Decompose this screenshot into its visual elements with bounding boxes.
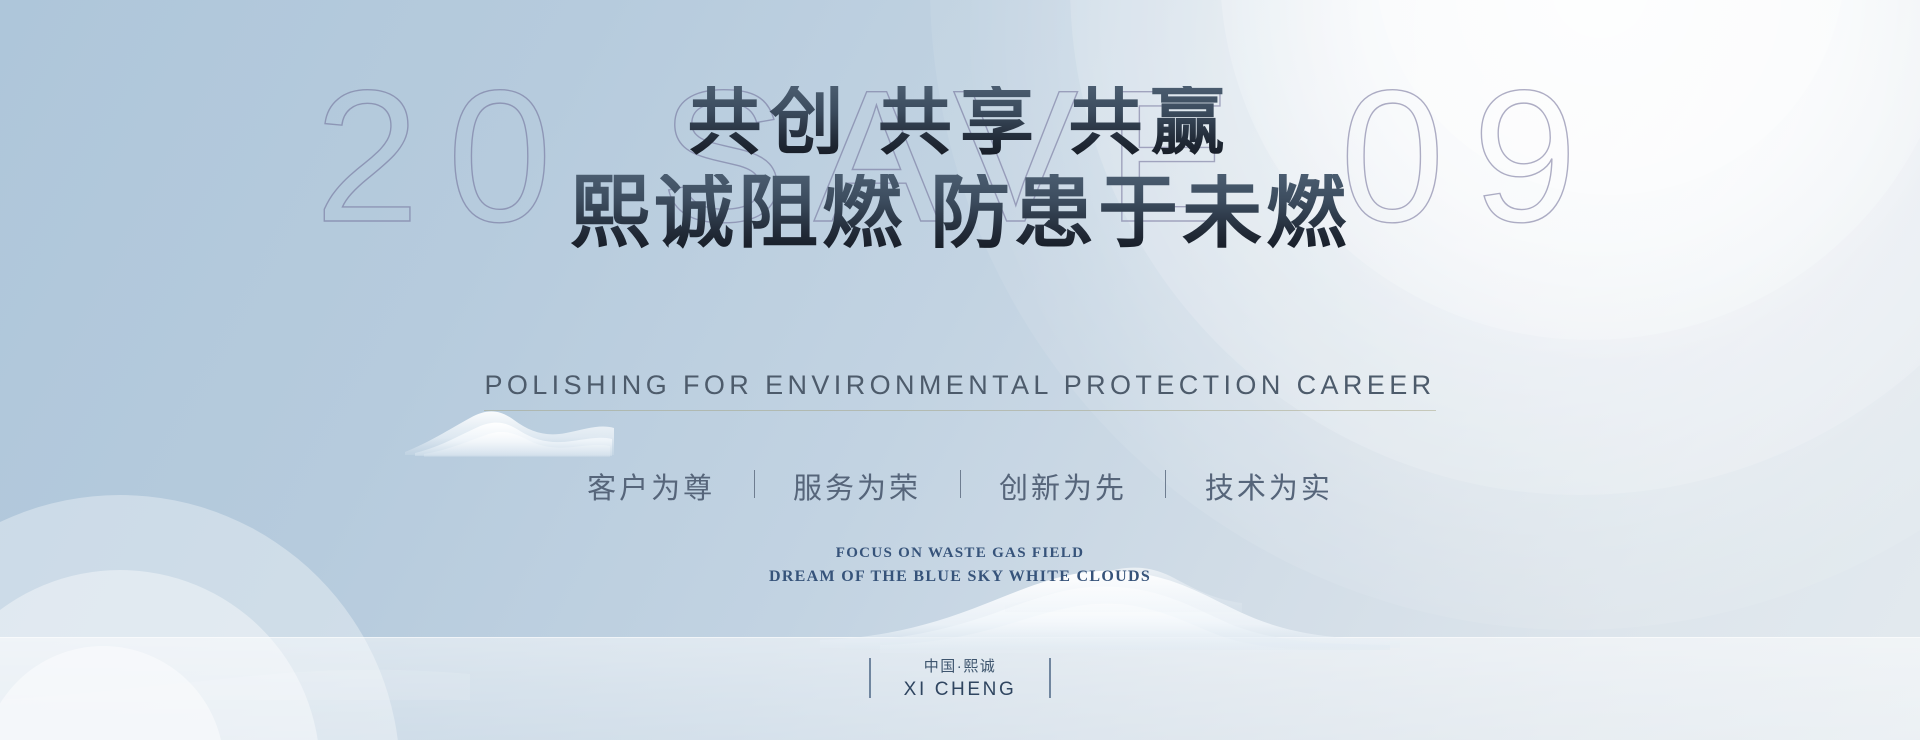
banner-content: 共创 共享 共赢 熙诚阻燃 防患于未燃 POLISHING FOR ENVIRO… [0,0,1920,740]
banner-stage: 20 SAVE 09 [0,0,1920,740]
logo-block: 中国·熙诚 XI CHENG [0,655,1920,701]
sub-serif-line-1: FOCUS ON WASTE GAS FIELD [0,545,1920,562]
value-item-1: 客户为尊 [587,465,715,507]
tagline-wrap: POLISHING FOR ENVIRONMENTAL PROTECTION C… [0,370,1920,411]
value-item-2: 服务为荣 [793,465,921,507]
headline-line-1: 共创 共享 共赢 [0,86,1920,160]
logo-chinese: 中国·熙诚 [904,655,1017,676]
logo-bar-left [869,658,871,698]
sub-serif-block: FOCUS ON WASTE GAS FIELD DREAM OF THE BL… [0,545,1920,586]
logo-text: 中国·熙诚 XI CHENG [904,655,1017,701]
value-item-4: 技术为实 [1205,465,1333,507]
values-list: 客户为尊 服务为荣 创新为先 技术为实 [0,465,1920,507]
value-item-3: 创新为先 [999,465,1127,507]
headline-line-2: 熙诚阻燃 防患于未燃 [0,174,1920,254]
value-separator-3 [1165,470,1166,498]
logo-english: XI CHENG [904,679,1017,701]
logo-bar-right [1049,658,1051,698]
tagline-text: POLISHING FOR ENVIRONMENTAL PROTECTION C… [484,370,1435,411]
value-separator-1 [754,470,755,498]
sub-serif-line-2: DREAM OF THE BLUE SKY WHITE CLOUDS [0,568,1920,586]
value-separator-2 [960,470,961,498]
headline-block: 共创 共享 共赢 熙诚阻燃 防患于未燃 [0,86,1920,254]
